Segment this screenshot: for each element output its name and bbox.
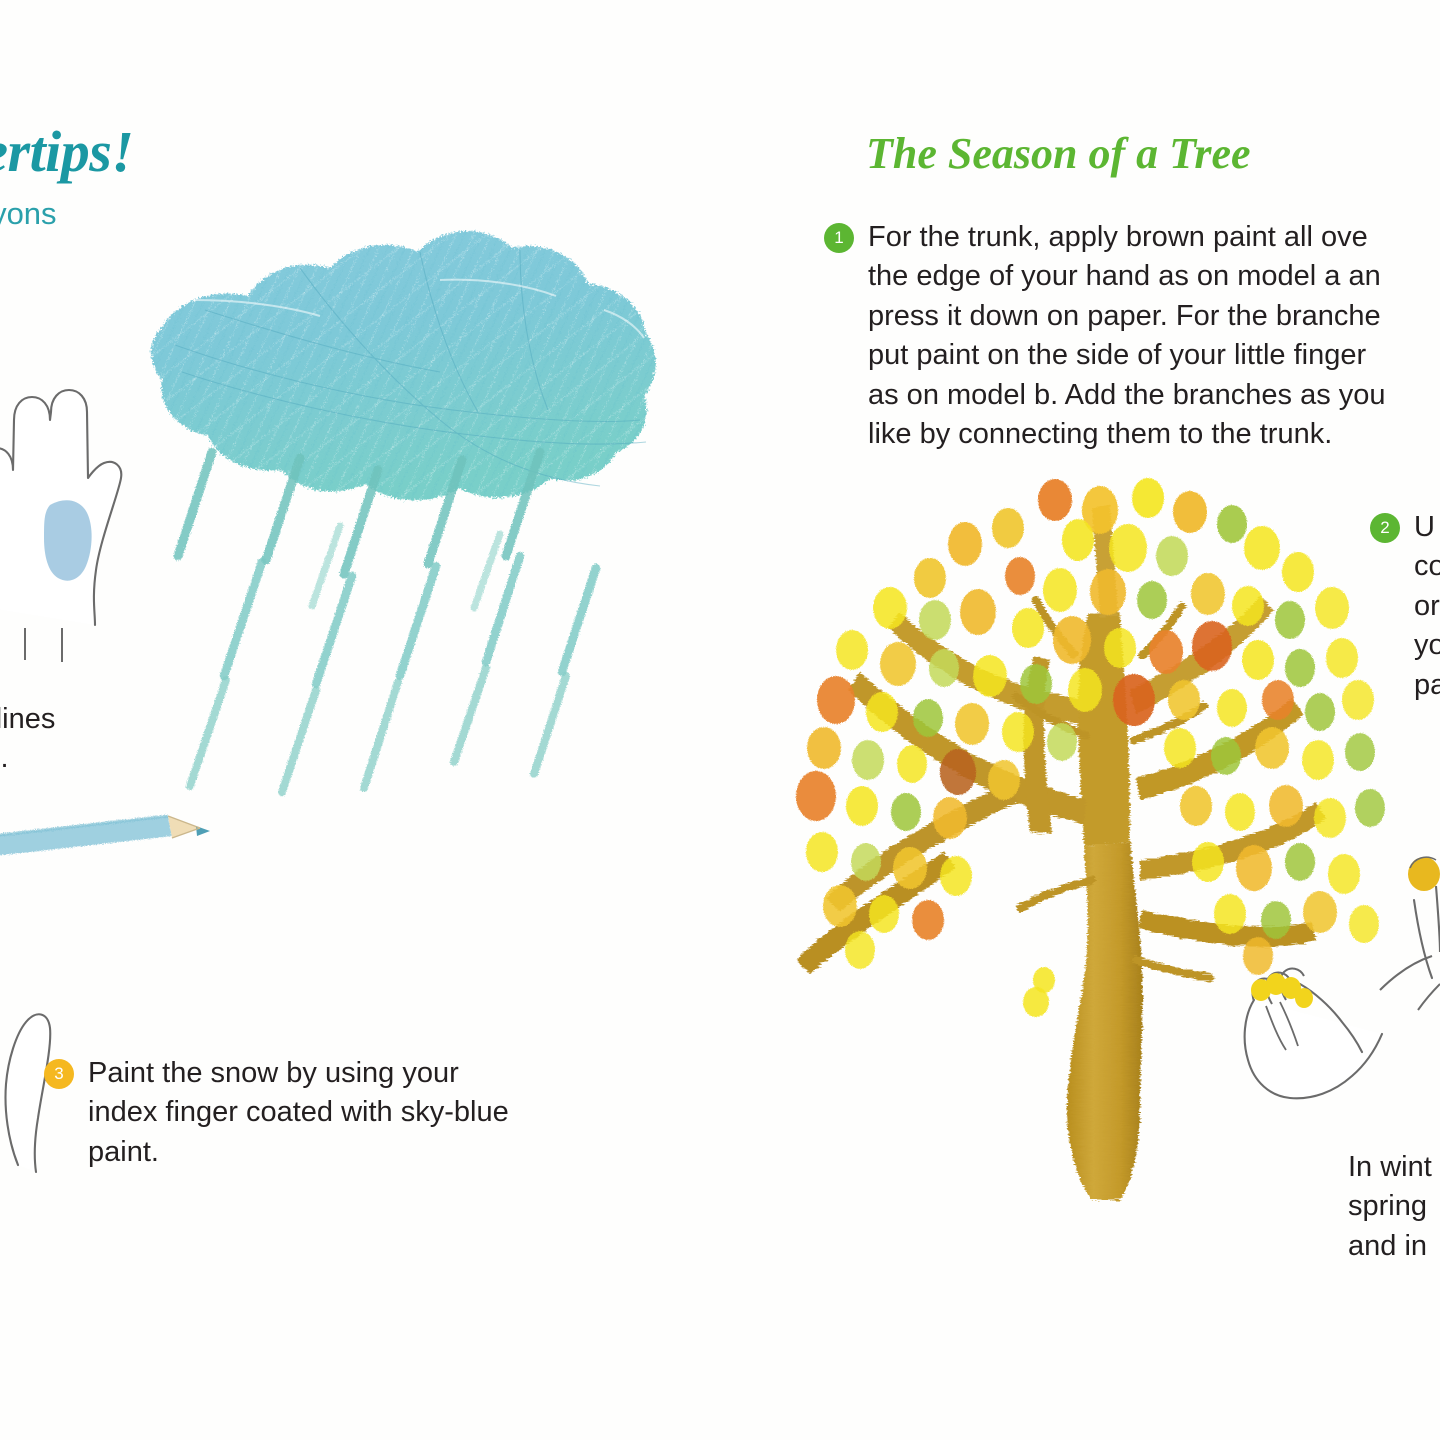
- book-spread: ngertips! crayons wing lines rayon. 3 Pa…: [0, 0, 1440, 1440]
- left-page-subtitle: crayons: [0, 196, 57, 232]
- autumn-tree-fingerprint: [0, 0, 1440, 1440]
- step-3-badge: 3: [44, 1059, 74, 1089]
- left-page-title: ngertips!: [0, 118, 133, 185]
- left-page-caption: wing lines rayon.: [0, 700, 55, 779]
- step-1-text: For the trunk, apply brown paint all ove…: [868, 218, 1386, 455]
- hand-outline-yellow-fingertips: [1245, 956, 1440, 1098]
- step-3-text: Paint the snow by using your index finge…: [88, 1054, 509, 1172]
- right-page-caption: In wint spring and in: [1348, 1148, 1432, 1266]
- step-2-badge: 2: [1370, 513, 1400, 543]
- step-1: 1 For the trunk, apply brown paint all o…: [824, 218, 1440, 455]
- right-page-title: The Season of a Tree: [866, 128, 1251, 179]
- step-3: 3 Paint the snow by using your index fin…: [44, 1054, 644, 1172]
- step-2: 2 U co or yo pa: [1370, 508, 1440, 705]
- step-1-badge: 1: [824, 223, 854, 253]
- step-2-text: U co or yo pa: [1414, 508, 1440, 705]
